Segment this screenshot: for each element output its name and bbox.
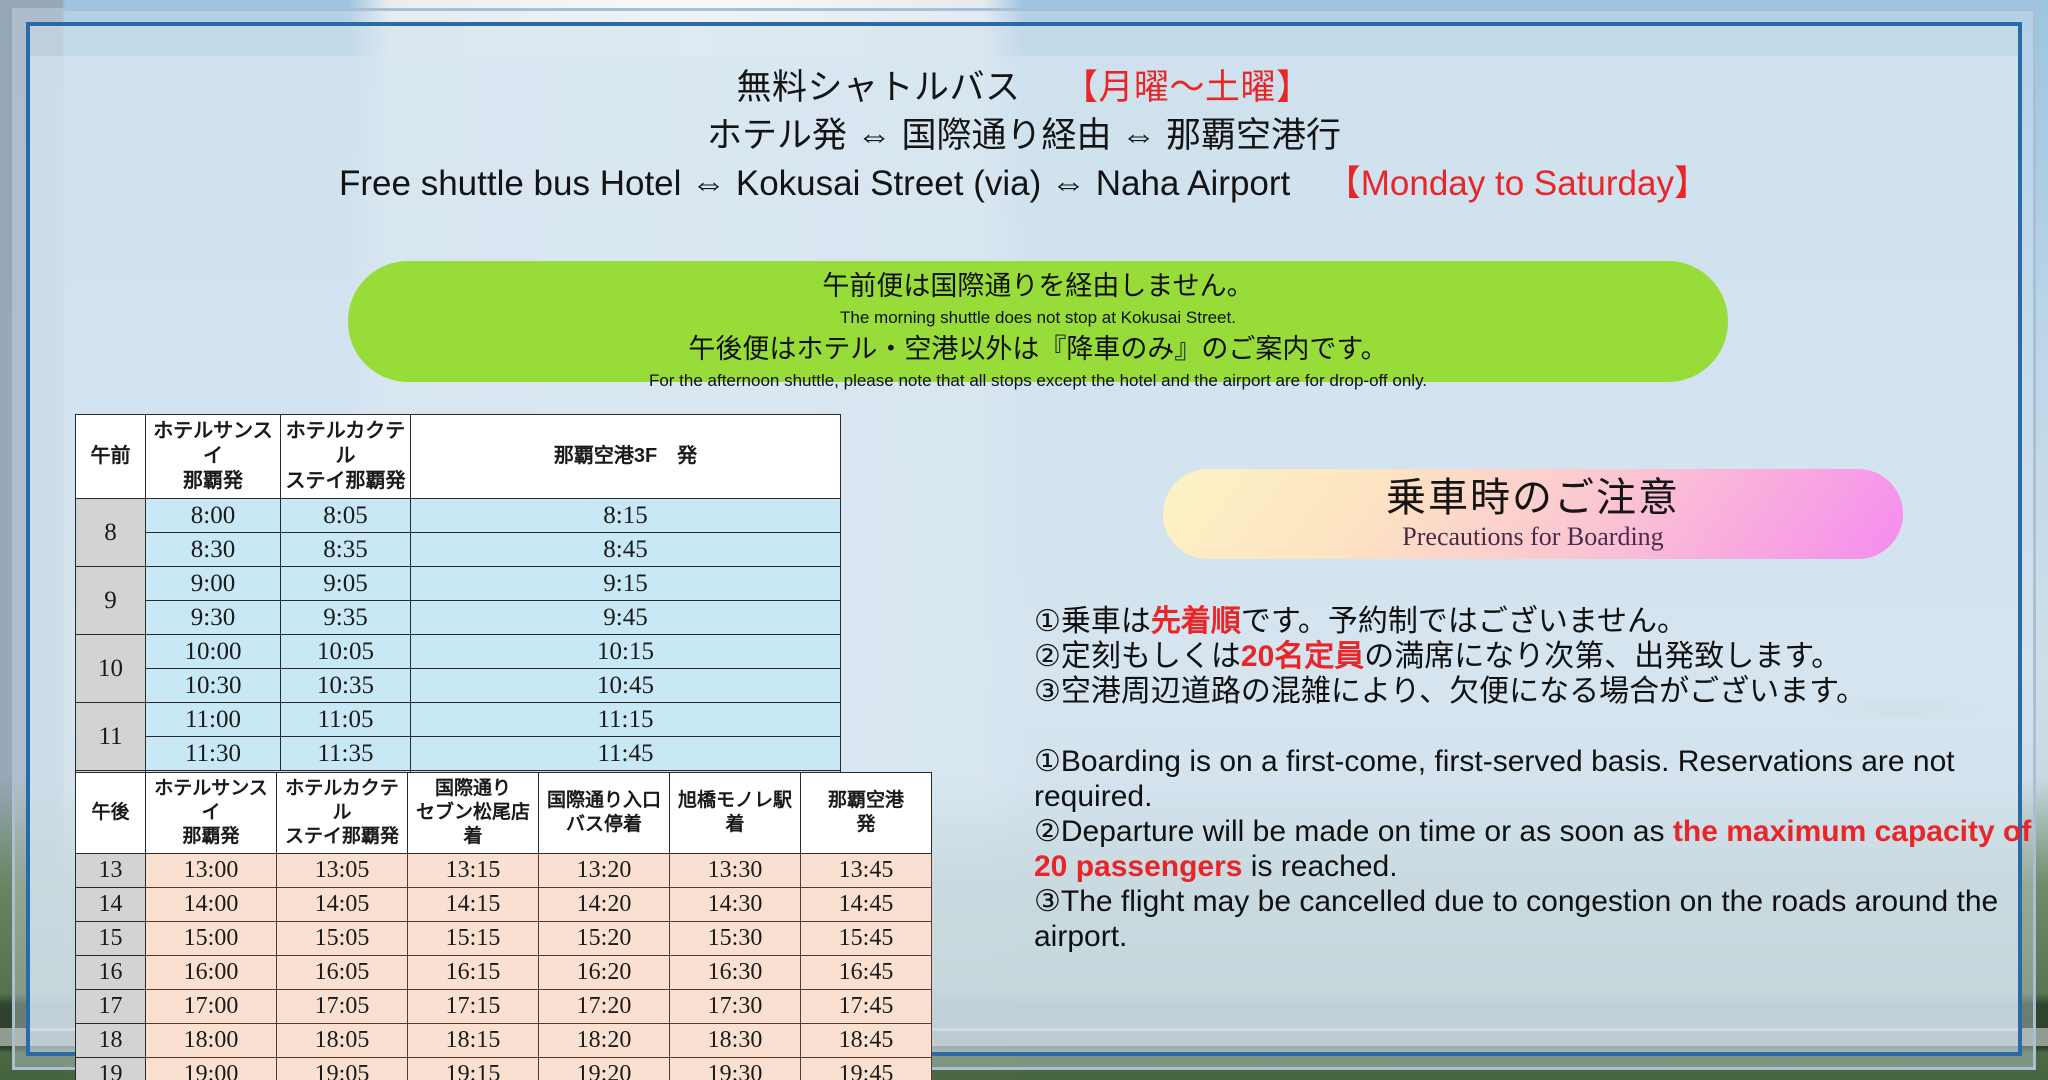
header-route-jp: ホテル発 ⇔ 国際通り経由 ⇔ 那覇空港行 [30, 112, 2018, 160]
time-cell: 11:05 [281, 703, 411, 737]
precautions-title-jp: 乗車時のご注意 [1163, 475, 1903, 521]
hour-cell: 8 [76, 499, 146, 567]
time-cell: 16:15 [408, 956, 539, 990]
precautions-jp-2a: ②定刻もしくは [1034, 640, 1241, 673]
time-cell: 14:45 [801, 888, 932, 922]
time-cell: 19:20 [539, 1058, 670, 1080]
table-row: 1717:0017:0517:1517:2017:3017:45 [76, 990, 932, 1024]
precautions-jp-1c: です。予約制ではございません。 [1241, 605, 1687, 638]
afternoon-col-kokusai-entrance-l2: バス停着 [566, 814, 642, 835]
time-cell: 17:00 [146, 990, 277, 1024]
time-cell: 18:00 [146, 1024, 277, 1058]
time-cell: 11:45 [411, 737, 841, 771]
time-cell: 9:30 [146, 601, 281, 635]
morning-col-cocktail: ホテルカクテル ステイ那覇発 [281, 415, 411, 499]
time-cell: 17:45 [801, 990, 932, 1024]
hour-cell: 13 [76, 854, 146, 888]
time-cell: 14:20 [539, 888, 670, 922]
time-cell: 17:15 [408, 990, 539, 1024]
precautions-jp-line-1: ①乗車は先着順です。予約制ではございません。 [1034, 604, 2044, 639]
precautions-en-line-3: ③The flight may be cancelled due to cong… [1034, 884, 2048, 954]
afternoon-col-asahibashi-l1: 旭橋モノレ駅 [678, 790, 792, 811]
hour-cell: 17 [76, 990, 146, 1024]
time-cell: 18:20 [539, 1024, 670, 1058]
afternoon-col-airport-l1: 那覇空港 [828, 790, 904, 811]
time-cell: 10:15 [411, 635, 841, 669]
time-cell: 11:15 [411, 703, 841, 737]
morning-header-row: 午前 ホテルサンスイ 那覇発 ホテルカクテル ステイ那覇発 那覇空港3F 発 [76, 415, 841, 499]
table-row: 1919:0019:0519:1519:2019:3019:45 [76, 1058, 932, 1080]
time-cell: 8:00 [146, 499, 281, 533]
table-row: 1616:0016:0516:1516:2016:3016:45 [76, 956, 932, 990]
morning-col-cocktail-l2: ステイ那覇発 [286, 470, 406, 492]
afternoon-col-kokusai-seven-l1: 国際通り [435, 778, 511, 799]
time-cell: 8:35 [281, 533, 411, 567]
table-row: 1313:0013:0513:1513:2013:3013:45 [76, 854, 932, 888]
table-row: 9:309:359:45 [76, 601, 841, 635]
morning-col-hour: 午前 [76, 415, 146, 499]
afternoon-col-airport-l2: 発 [856, 814, 875, 835]
precautions-jp-line-2: ②定刻もしくは20名定員の満席になり次第、出発致します。 [1034, 639, 2044, 674]
afternoon-col-airport: 那覇空港 発 [801, 773, 932, 854]
table-row: 11:3011:3511:45 [76, 737, 841, 771]
time-cell: 13:05 [277, 854, 408, 888]
afternoon-timetable-wrapper: 午後 ホテルサンスイ 那覇発 ホテルカクテル ステイ那覇発 国際通り セブン松尾… [75, 772, 932, 1080]
header-days-en: 【Monday to Saturday】 [1326, 164, 1709, 203]
afternoon-col-cocktail-l1: ホテルカクテル [285, 778, 398, 823]
time-cell: 16:05 [277, 956, 408, 990]
time-cell: 19:30 [670, 1058, 801, 1080]
time-cell: 16:45 [801, 956, 932, 990]
notice-jp-line-2: 午後便はホテル・空港以外は『降車のみ』のご案内です。 [348, 330, 1728, 368]
afternoon-col-cocktail-l2: ステイ那覇発 [285, 826, 399, 847]
hour-cell: 15 [76, 922, 146, 956]
time-cell: 8:15 [411, 499, 841, 533]
afternoon-header-row: 午後 ホテルサンスイ 那覇発 ホテルカクテル ステイ那覇発 国際通り セブン松尾… [76, 773, 932, 854]
precautions-jp-1a: ①乗車は [1034, 605, 1151, 638]
precautions-en-line-1: ①Boarding is on a first-come, first-serv… [1034, 744, 2048, 814]
time-cell: 9:35 [281, 601, 411, 635]
precautions-jp-1b-highlight: 先着順 [1151, 605, 1241, 638]
hour-cell: 9 [76, 567, 146, 635]
precautions-en-line-2: ②Departure will be made on time or as so… [1034, 814, 2048, 884]
hour-cell: 18 [76, 1024, 146, 1058]
afternoon-col-asahibashi: 旭橋モノレ駅 着 [670, 773, 801, 854]
precautions-title-en: Precautions for Boarding [1163, 521, 1903, 553]
time-cell: 17:20 [539, 990, 670, 1024]
table-row: 1111:0011:0511:15 [76, 703, 841, 737]
afternoon-col-asahibashi-l2: 着 [725, 814, 744, 835]
time-cell: 18:45 [801, 1024, 932, 1058]
time-cell: 10:05 [281, 635, 411, 669]
time-cell: 9:15 [411, 567, 841, 601]
hour-cell: 14 [76, 888, 146, 922]
table-row: 88:008:058:15 [76, 499, 841, 533]
time-cell: 14:30 [670, 888, 801, 922]
time-cell: 19:00 [146, 1058, 277, 1080]
time-cell: 17:05 [277, 990, 408, 1024]
time-cell: 14:00 [146, 888, 277, 922]
content-panel: 無料シャトルバス 【月曜～土曜】 ホテル発 ⇔ 国際通り経由 ⇔ 那覇空港行 F… [30, 56, 2018, 1031]
time-cell: 10:00 [146, 635, 281, 669]
precautions-jp-line-3: ③空港周辺道路の混雑により、欠便になる場合がございます。 [1034, 674, 2044, 709]
header-days-jp: 【月曜～土曜】 [1063, 68, 1312, 107]
morning-col-sansui-l2: 那覇発 [183, 470, 243, 492]
table-row: 10:3010:3510:45 [76, 669, 841, 703]
time-cell: 14:15 [408, 888, 539, 922]
time-cell: 13:00 [146, 854, 277, 888]
morning-col-cocktail-l1: ホテルカクテル [286, 420, 405, 467]
time-cell: 15:00 [146, 922, 277, 956]
afternoon-col-sansui: ホテルサンスイ 那覇発 [146, 773, 277, 854]
afternoon-col-kokusai-entrance-l1: 国際通り入口 [547, 790, 661, 811]
table-row: 99:009:059:15 [76, 567, 841, 601]
time-cell: 11:00 [146, 703, 281, 737]
afternoon-col-kokusai-seven-l2: セブン松尾店着 [416, 802, 530, 847]
time-cell: 9:00 [146, 567, 281, 601]
time-cell: 9:05 [281, 567, 411, 601]
header-route-en: Free shuttle bus Hotel ⇔ Kokusai Street … [339, 164, 1290, 203]
notice-banner: 午前便は国際通りを経由しません。 The morning shuttle doe… [348, 261, 1728, 382]
time-cell: 18:05 [277, 1024, 408, 1058]
time-cell: 19:45 [801, 1058, 932, 1080]
time-cell: 8:30 [146, 533, 281, 567]
table-row: 8:308:358:45 [76, 533, 841, 567]
time-cell: 8:45 [411, 533, 841, 567]
hour-cell: 16 [76, 956, 146, 990]
hour-cell: 11 [76, 703, 146, 771]
time-cell: 11:35 [281, 737, 411, 771]
header-block: 無料シャトルバス 【月曜～土曜】 ホテル発 ⇔ 国際通り経由 ⇔ 那覇空港行 F… [30, 64, 2018, 208]
time-cell: 18:15 [408, 1024, 539, 1058]
time-cell: 15:45 [801, 922, 932, 956]
time-cell: 13:30 [670, 854, 801, 888]
header-line-1: 無料シャトルバス 【月曜～土曜】 [30, 64, 2018, 112]
morning-timetable-wrapper: 午前 ホテルサンスイ 那覇発 ホテルカクテル ステイ那覇発 那覇空港3F 発 8… [75, 414, 841, 805]
table-row: 1515:0015:0515:1515:2015:3015:45 [76, 922, 932, 956]
table-row: 1010:0010:0510:15 [76, 635, 841, 669]
time-cell: 19:05 [277, 1058, 408, 1080]
table-row: 1818:0018:0518:1518:2018:3018:45 [76, 1024, 932, 1058]
time-cell: 16:30 [670, 956, 801, 990]
time-cell: 8:05 [281, 499, 411, 533]
afternoon-table-body: 1313:0013:0513:1513:2013:3013:451414:001… [76, 854, 932, 1080]
time-cell: 13:15 [408, 854, 539, 888]
time-cell: 10:35 [281, 669, 411, 703]
afternoon-col-cocktail: ホテルカクテル ステイ那覇発 [277, 773, 408, 854]
header-line-3: Free shuttle bus Hotel ⇔ Kokusai Street … [30, 160, 2018, 208]
afternoon-col-kokusai-seven: 国際通り セブン松尾店着 [408, 773, 539, 854]
afternoon-col-sansui-l1: ホテルサンスイ [154, 778, 268, 823]
time-cell: 13:20 [539, 854, 670, 888]
notice-en-line-1: The morning shuttle does not stop at Kok… [348, 305, 1728, 330]
time-cell: 10:45 [411, 669, 841, 703]
precautions-jp-2c: の満席になり次第、出発致します。 [1364, 640, 1841, 673]
table-row: 1414:0014:0514:1514:2014:3014:45 [76, 888, 932, 922]
time-cell: 9:45 [411, 601, 841, 635]
afternoon-col-kokusai-entrance: 国際通り入口 バス停着 [539, 773, 670, 854]
time-cell: 10:30 [146, 669, 281, 703]
time-cell: 18:30 [670, 1024, 801, 1058]
afternoon-col-sansui-l2: 那覇発 [182, 826, 239, 847]
header-title-jp: 無料シャトルバス [737, 68, 1021, 107]
morning-col-sansui: ホテルサンスイ 那覇発 [146, 415, 281, 499]
notice-en-line-2: For the afternoon shuttle, please note t… [348, 368, 1728, 393]
time-cell: 13:45 [801, 854, 932, 888]
morning-col-airport: 那覇空港3F 発 [411, 415, 841, 499]
time-cell: 15:05 [277, 922, 408, 956]
time-cell: 17:30 [670, 990, 801, 1024]
precautions-title-badge: 乗車時のご注意 Precautions for Boarding [1163, 469, 1903, 559]
time-cell: 16:20 [539, 956, 670, 990]
time-cell: 15:30 [670, 922, 801, 956]
morning-col-sansui-l1: ホテルサンスイ [153, 420, 273, 467]
time-cell: 16:00 [146, 956, 277, 990]
precautions-en-2a: ②Departure will be made on time or as so… [1034, 815, 1673, 848]
hour-cell: 19 [76, 1058, 146, 1080]
slide-canvas: 無料シャトルバス 【月曜～土曜】 ホテル発 ⇔ 国際通り経由 ⇔ 那覇空港行 F… [0, 0, 2048, 1080]
precautions-en-block: ①Boarding is on a first-come, first-serv… [1034, 744, 2048, 954]
morning-timetable: 午前 ホテルサンスイ 那覇発 ホテルカクテル ステイ那覇発 那覇空港3F 発 8… [75, 414, 841, 805]
precautions-jp-block: ①乗車は先着順です。予約制ではございません。 ②定刻もしくは20名定員の満席にな… [1034, 604, 2044, 709]
morning-table-body: 88:008:058:158:308:358:4599:009:059:159:… [76, 499, 841, 805]
time-cell: 15:20 [539, 922, 670, 956]
precautions-jp-2b-highlight: 20名定員 [1241, 640, 1364, 673]
time-cell: 19:15 [408, 1058, 539, 1080]
precautions-en-2c: is reached. [1242, 850, 1397, 883]
notice-jp-line-1: 午前便は国際通りを経由しません。 [348, 267, 1728, 305]
time-cell: 11:30 [146, 737, 281, 771]
hour-cell: 10 [76, 635, 146, 703]
time-cell: 14:05 [277, 888, 408, 922]
afternoon-col-hour: 午後 [76, 773, 146, 854]
time-cell: 15:15 [408, 922, 539, 956]
afternoon-timetable: 午後 ホテルサンスイ 那覇発 ホテルカクテル ステイ那覇発 国際通り セブン松尾… [75, 772, 932, 1080]
